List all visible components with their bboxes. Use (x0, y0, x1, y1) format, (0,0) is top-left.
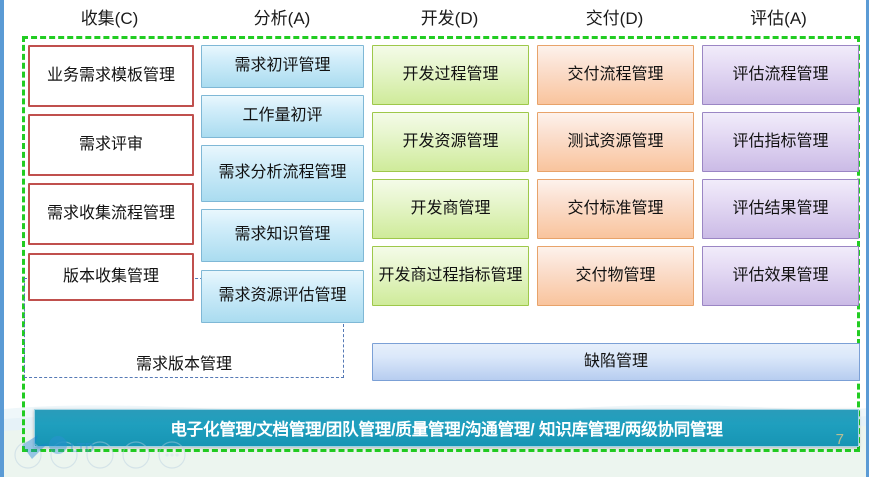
slide-canvas: 收集(C) 分析(A) 开发(D) 交付(D) 评估(A) 需求版本管理 业务需… (0, 0, 869, 477)
page-number: 7 (836, 431, 844, 448)
card-develop-0[interactable]: 开发过程管理 (372, 45, 529, 105)
card-develop-3[interactable]: 开发商过程指标管理 (372, 246, 529, 306)
card-analysis-0[interactable]: 需求初评管理 (201, 45, 364, 88)
card-develop-1[interactable]: 开发资源管理 (372, 112, 529, 172)
card-analysis-3[interactable]: 需求知识管理 (201, 209, 364, 262)
card-analysis-2[interactable]: 需求分析流程管理 (201, 145, 364, 202)
card-collect-3[interactable]: 版本收集管理 (28, 253, 194, 301)
card-deliver-0[interactable]: 交付流程管理 (537, 45, 694, 105)
header-deliver: 交付(D) (532, 3, 697, 36)
column-develop: 开发过程管理 开发资源管理 开发商管理 开发商过程指标管理 (372, 45, 529, 313)
header-collect: 收集(C) (22, 3, 197, 36)
defect-row: 缺陷管理 (372, 343, 860, 381)
header-evaluate: 评估(A) (697, 3, 860, 36)
card-evaluate-3[interactable]: 评估效果管理 (702, 246, 859, 306)
card-develop-2[interactable]: 开发商管理 (372, 179, 529, 239)
capability-grid: 业务需求模板管理 需求评审 需求收集流程管理 版本收集管理 需求初评管理 工作量… (28, 45, 860, 385)
card-defect-management[interactable]: 缺陷管理 (372, 343, 860, 381)
header-develop: 开发(D) (367, 3, 532, 36)
column-evaluate: 评估流程管理 评估指标管理 评估结果管理 评估效果管理 (702, 45, 859, 313)
card-collect-0[interactable]: 业务需求模板管理 (28, 45, 194, 107)
card-evaluate-1[interactable]: 评估指标管理 (702, 112, 859, 172)
column-headers: 收集(C) 分析(A) 开发(D) 交付(D) 评估(A) (22, 3, 860, 36)
card-evaluate-0[interactable]: 评估流程管理 (702, 45, 859, 105)
header-analysis: 分析(A) (197, 3, 367, 36)
column-collect: 业务需求模板管理 需求评审 需求收集流程管理 版本收集管理 (28, 45, 194, 308)
column-deliver: 交付流程管理 测试资源管理 交付标准管理 交付物管理 (537, 45, 694, 313)
card-deliver-2[interactable]: 交付标准管理 (537, 179, 694, 239)
card-analysis-4[interactable]: 需求资源评估管理 (201, 270, 364, 323)
card-collect-1[interactable]: 需求评审 (28, 114, 194, 176)
card-evaluate-2[interactable]: 评估结果管理 (702, 179, 859, 239)
footer-bar: 电子化管理/文档管理/团队管理/质量管理/沟通管理/ 知识库管理/两级协同管理 (34, 409, 859, 447)
card-collect-2[interactable]: 需求收集流程管理 (28, 183, 194, 245)
column-analysis: 需求初评管理 工作量初评 需求分析流程管理 需求知识管理 需求资源评估管理 (201, 45, 364, 330)
card-analysis-1[interactable]: 工作量初评 (201, 95, 364, 138)
card-deliver-1[interactable]: 测试资源管理 (537, 112, 694, 172)
card-deliver-3[interactable]: 交付物管理 (537, 246, 694, 306)
